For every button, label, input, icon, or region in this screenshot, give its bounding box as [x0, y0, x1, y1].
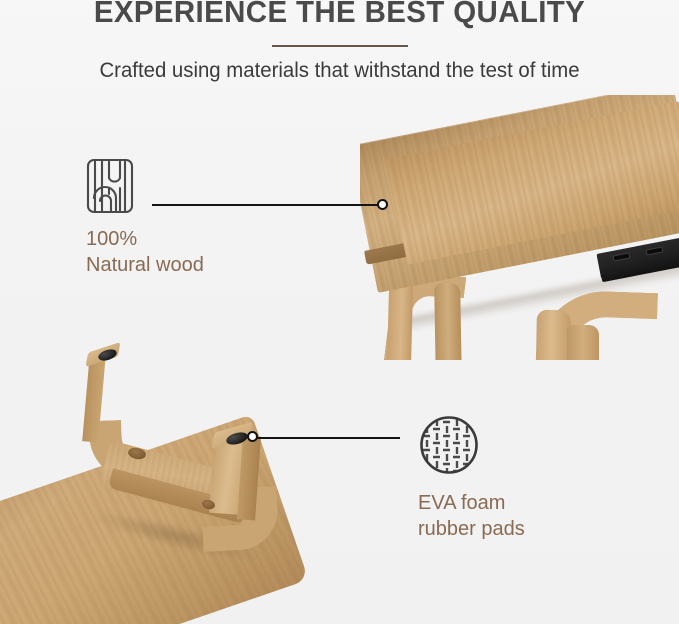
woven-foam-circle-icon [418, 414, 480, 476]
product-photo-stand-underside [0, 340, 330, 624]
page-title: EXPERIENCE THE BEST QUALITY [17, 0, 662, 30]
stand-leg-rear-inner [434, 283, 462, 360]
stand-leg-front-column-shade [567, 325, 599, 360]
stand-leg-front-column [535, 310, 571, 360]
page-subtitle: Crafted using materials that withstand t… [10, 58, 669, 84]
callout-label-eva-foam: EVA foam rubber pads [418, 490, 525, 542]
wood-grain-icon [86, 158, 134, 214]
product-photo-monitor-stand [360, 95, 679, 360]
callout-eva-foam: EVA foam rubber pads [418, 414, 525, 542]
callout-leader-line-foam [254, 437, 400, 439]
callout-natural-wood: 100% Natural wood [86, 158, 204, 278]
infographic-canvas: EXPERIENCE THE BEST QUALITY Crafted usin… [0, 0, 679, 624]
callout-label-natural-wood: 100% Natural wood [86, 226, 204, 278]
title-divider [272, 45, 408, 47]
callout-anchor-dot-foam [247, 431, 258, 442]
callout-anchor-dot-wood [377, 199, 388, 210]
